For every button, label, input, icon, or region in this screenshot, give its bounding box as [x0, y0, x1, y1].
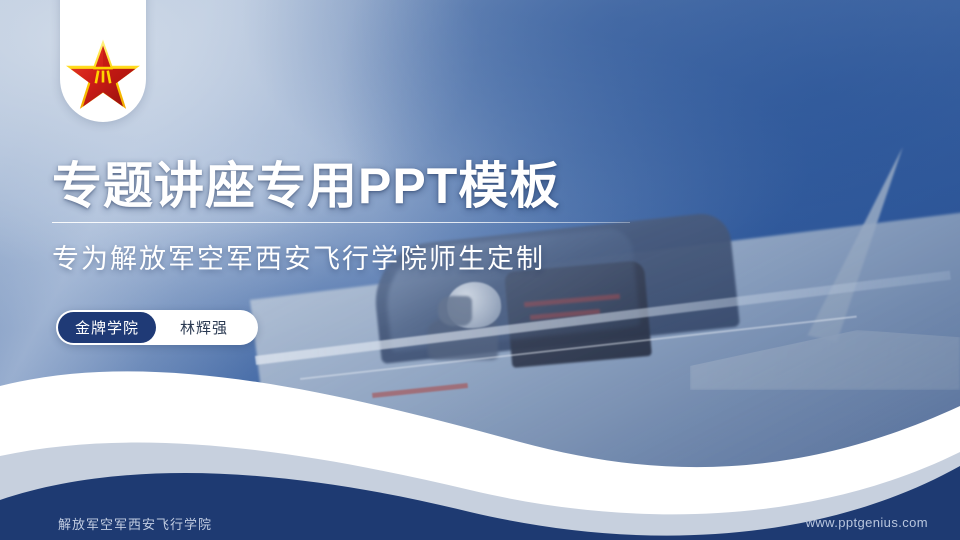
footer-website[interactable]: www.pptgenius.com — [806, 515, 928, 530]
page-subtitle: 专为解放军空军西安飞行学院师生定制 — [52, 237, 732, 276]
decorative-wave-group — [0, 330, 960, 540]
pilot-oxygen-mask — [438, 296, 472, 326]
presentation-slide: 专题讲座专用PPT模板 专为解放军空军西安飞行学院师生定制 金牌学院 林辉强 解… — [0, 0, 960, 540]
page-title: 专题讲座专用PPT模板 — [52, 158, 732, 214]
footer-institution: 解放军空军西安飞行学院 — [58, 514, 212, 533]
headline-block: 专题讲座专用PPT模板 专为解放军空军西安飞行学院师生定制 — [52, 158, 732, 276]
title-divider — [52, 222, 630, 223]
pla-star-icon — [64, 38, 142, 112]
